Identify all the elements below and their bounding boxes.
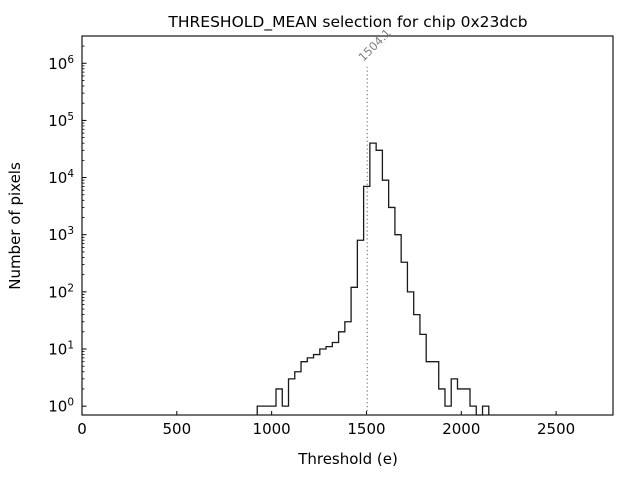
figure-canvas: THRESHOLD_MEAN selection for chip 0x23dc… [0, 0, 640, 480]
histogram-series [257, 143, 489, 415]
histogram-chart: THRESHOLD_MEAN selection for chip 0x23dc… [0, 0, 640, 480]
x-tick-label-2000: 2000 [442, 420, 480, 438]
x-axis-label: Threshold (e) [297, 450, 398, 468]
annotation-group: 1504.1 [355, 26, 393, 415]
x-tick-label-500: 500 [163, 420, 192, 438]
x-tick-label-0: 0 [77, 420, 87, 438]
chart-title-group: THRESHOLD_MEAN selection for chip 0x23dc… [167, 13, 527, 32]
x-tick-label-2500: 2500 [537, 420, 575, 438]
histogram-step-path [257, 143, 489, 415]
y-tick-label-1e5: 105 [48, 111, 74, 130]
y-tick-label-1e4: 104 [48, 168, 74, 187]
y-tick-label-1e0: 100 [48, 397, 74, 416]
x-tick-label-1000: 1000 [253, 420, 291, 438]
y-tick-label-1e1: 101 [48, 340, 74, 359]
x-tick-label-1500: 1500 [347, 420, 385, 438]
axes-spines [82, 36, 613, 415]
axis-labels-group: Threshold (e) Number of pixels [6, 162, 398, 468]
y-tick-label-1e6: 106 [48, 54, 74, 73]
y-axis-ticks: 100101102103104105106 [48, 54, 86, 416]
threshold-mean-label: 1504.1 [355, 26, 393, 64]
y-axis-label: Number of pixels [6, 162, 24, 290]
chart-title: THRESHOLD_MEAN selection for chip 0x23dc… [167, 13, 527, 32]
plot-frame [82, 36, 613, 415]
y-tick-label-1e2: 102 [48, 282, 74, 301]
y-tick-label-1e3: 103 [48, 225, 74, 244]
